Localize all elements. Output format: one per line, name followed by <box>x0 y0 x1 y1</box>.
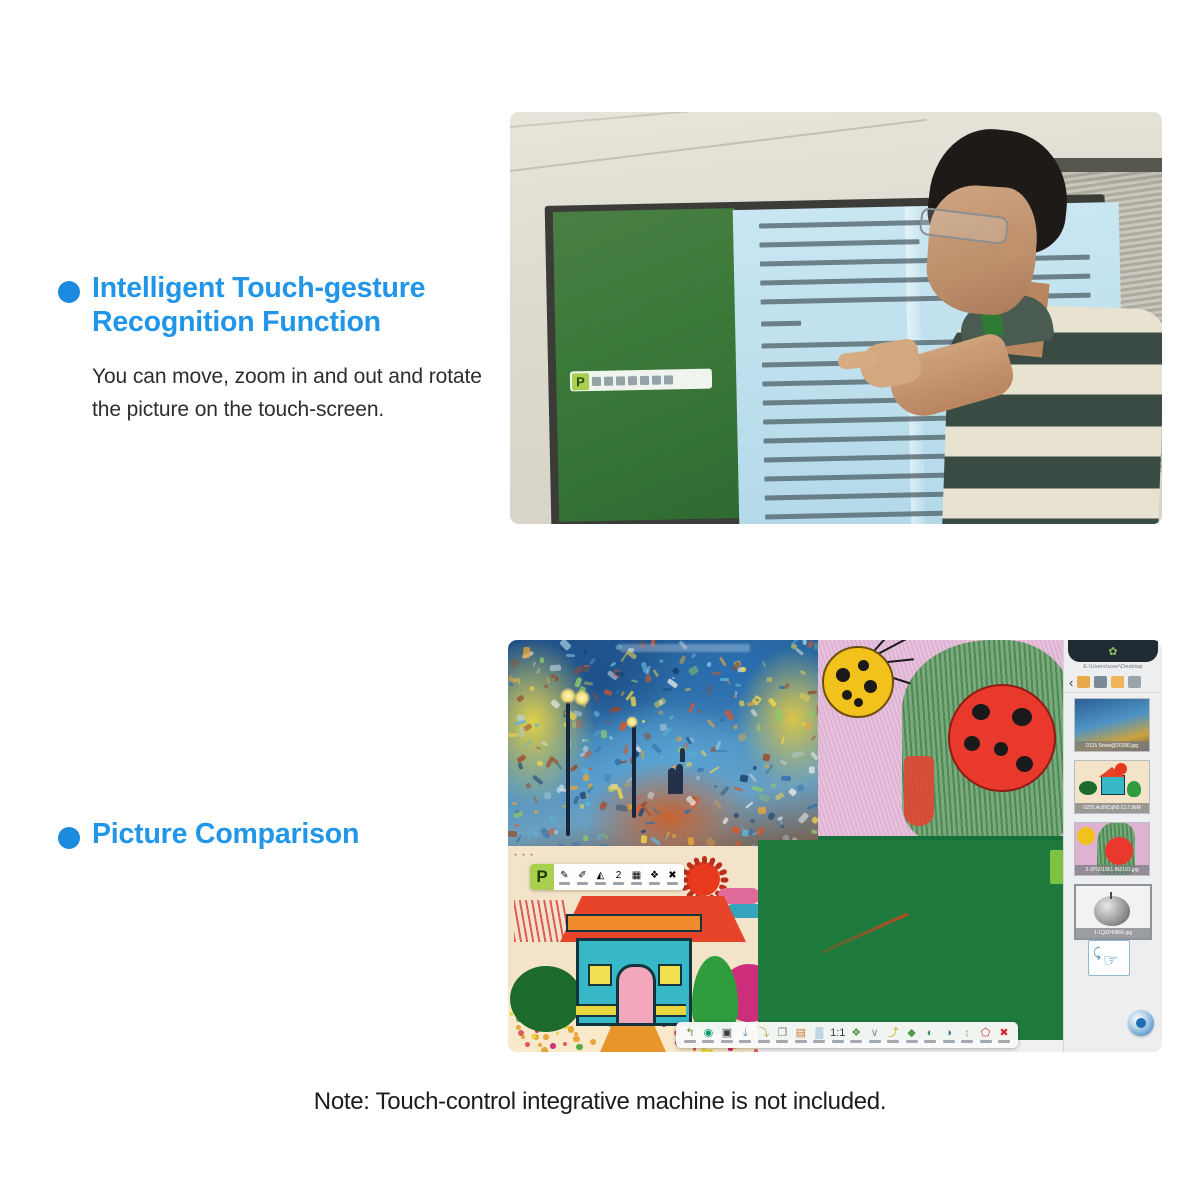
yellow-ladybug <box>822 646 894 718</box>
touch-gesture-icon[interactable]: ⤹ ☞ <box>1088 940 1130 976</box>
toolbar-button-label <box>832 1040 844 1043</box>
toolbar-button[interactable]: ▣ <box>719 1027 735 1043</box>
shapes-icon: ❖ <box>650 870 659 881</box>
page-number-icon: 2 <box>616 870 622 881</box>
flower-dot <box>556 1032 559 1035</box>
red-scribble <box>514 900 566 942</box>
sort-icon: ↕ <box>964 1027 970 1039</box>
floating-p-toolbar[interactable]: P ✎ ✐ ◭ 2 ▦ ❖ ✖ <box>530 864 684 890</box>
flower-dot <box>563 1042 567 1046</box>
tool-label <box>667 882 678 885</box>
document-text-line <box>761 321 801 327</box>
brush-stroke <box>600 730 607 738</box>
clock-icon: ◑ <box>945 1027 952 1039</box>
brush-stroke <box>508 831 517 837</box>
toolbar-button[interactable]: ∨ <box>867 1027 883 1043</box>
house-thumbnail[interactable]: 0205.ActNCqN5.CL7.tNM <box>1074 760 1150 814</box>
tool-label <box>631 882 642 885</box>
tool-label <box>595 882 606 885</box>
pen-icon: ✎ <box>560 870 568 881</box>
drawing-caption: ・・・ <box>512 850 536 860</box>
figure-walking <box>676 764 683 794</box>
photo-picture-comparison-demo: ・・・ P ✎ ✐ ◭ 2 ▦ ❖ <box>508 640 1162 1052</box>
tool-icon[interactable] <box>604 376 613 385</box>
floating-p-toolbar-top[interactable]: P <box>570 369 712 392</box>
toolbar-button-label <box>702 1040 714 1043</box>
toolbar-button[interactable]: ◐ <box>922 1027 938 1043</box>
person-figure <box>882 120 1162 524</box>
toolbar-button-label <box>869 1040 881 1043</box>
flower-dot <box>543 1034 549 1040</box>
leaf-icon: ✿ <box>1108 645 1117 658</box>
ladybug-spot <box>842 690 852 700</box>
flower-dot <box>701 1048 707 1052</box>
brush-stroke <box>523 646 531 658</box>
bullet-icon <box>58 827 80 849</box>
house-roof-band <box>566 914 702 932</box>
hand-pointer-icon: ☞ <box>1103 951 1118 971</box>
picture-comparison-grid: ・・・ P ✎ ✐ ◭ 2 ▦ ❖ <box>508 640 1068 1052</box>
flower-dot <box>573 1036 580 1043</box>
tool-icon[interactable] <box>592 376 601 385</box>
toolbar-button[interactable]: ❖ <box>848 1027 864 1043</box>
fit-icon: ❖ <box>851 1027 861 1039</box>
toolbar-button-label <box>739 1040 751 1043</box>
lamp-glow-icon <box>574 690 590 706</box>
brush-stroke <box>810 829 816 834</box>
tool-icon[interactable] <box>616 376 625 385</box>
rotate-icon: ⤴ <box>888 1027 899 1039</box>
toolbar-button[interactable]: ❐ <box>774 1027 790 1043</box>
bullet-icon <box>58 281 80 303</box>
flip-icon: ∨ <box>871 1027 879 1039</box>
import-icon: ⤵ <box>758 1027 769 1039</box>
toolbar-button[interactable]: ◆ <box>904 1027 920 1043</box>
brush-stroke <box>572 720 576 729</box>
ladybug-spot <box>858 660 869 671</box>
feature-heading-row: Intelligent Touch-gesture Recognition Fu… <box>58 272 498 339</box>
tool-icon[interactable] <box>628 376 637 385</box>
figure-walking <box>668 768 676 794</box>
ladybug-spot <box>972 704 990 720</box>
p-logo-icon: P <box>530 864 554 890</box>
ladybug-spot <box>964 736 980 751</box>
toolbar-button-label <box>998 1040 1010 1043</box>
toolbar-button[interactable]: ◑ <box>941 1027 957 1043</box>
quadrant-green-canvas[interactable] <box>758 840 1068 1040</box>
toolbar-button[interactable]: ▒ <box>811 1027 827 1043</box>
erase-icon: ⬠ <box>981 1027 991 1039</box>
toolbar-button-label <box>906 1040 918 1043</box>
toolbar-item[interactable]: ◭ <box>593 870 608 885</box>
download-icon: ⤓ <box>743 1027 748 1039</box>
undo-icon: ↰ <box>685 1027 694 1039</box>
toolbar-button-label <box>887 1040 899 1043</box>
ladybug-spot <box>994 742 1008 756</box>
toolbar-button-label <box>924 1040 936 1043</box>
thumbnail-caption: 0205.ActNCqN5.CL7.tNM <box>1075 803 1149 813</box>
paint-icon: ◆ <box>907 1027 915 1039</box>
brush-stroke <box>712 671 721 675</box>
feature-body-text: You can move, zoom in and out and rotate… <box>92 361 498 427</box>
quadrant-painting[interactable] <box>508 640 818 846</box>
brush-stroke <box>514 823 520 827</box>
figure-walking-distant <box>680 748 685 762</box>
brush-stroke <box>641 750 645 759</box>
toolbar-button-label <box>684 1040 696 1043</box>
shape-icon: ❐ <box>777 1027 787 1039</box>
brush-stroke <box>549 664 560 671</box>
toolbar-button-label <box>980 1040 992 1043</box>
ladybug-spot <box>1016 756 1033 772</box>
brush-stroke <box>508 733 518 737</box>
ladybug-spot <box>854 698 863 707</box>
brush-stroke <box>660 755 664 758</box>
grid-icon: ▦ <box>632 870 641 881</box>
location-icon: ◉ <box>704 1027 714 1039</box>
brush-stroke <box>629 696 636 707</box>
ladybug-spot <box>836 668 850 682</box>
brush-stroke <box>809 766 815 774</box>
tool-label <box>559 882 570 885</box>
swipe-arrow-icon: ⤹ <box>1093 945 1101 961</box>
sidebar-toolbar[interactable]: ‹ <box>1064 672 1162 693</box>
brush-stroke <box>780 776 790 781</box>
brush-stroke <box>598 834 601 840</box>
camera-icon: ▣ <box>722 1027 732 1039</box>
sun-ray <box>702 856 707 864</box>
dark-tree <box>510 966 582 1032</box>
sidebar-path-label: E:\Users\user\Desktop <box>1064 664 1162 670</box>
presentation-icon: ▤ <box>796 1027 806 1039</box>
toolbar-button-label <box>795 1040 807 1043</box>
toolbar-item[interactable]: ✖ <box>665 870 680 885</box>
flower-dot <box>525 1042 530 1047</box>
brush-stroke <box>756 725 760 732</box>
toolbar-button[interactable]: ✖ <box>996 1027 1012 1043</box>
house-window <box>658 964 682 986</box>
actual-size-icon: 1:1 <box>830 1027 845 1039</box>
copy-icon[interactable] <box>1094 676 1107 688</box>
toolbar-item[interactable]: ▦ <box>629 870 644 885</box>
apple-thumbnail[interactable]: 1-1QZIH0856.jpg <box>1074 884 1152 940</box>
toolbar-item[interactable]: ❖ <box>647 870 662 885</box>
ladybug-spot <box>1012 708 1032 726</box>
brush-stroke <box>659 690 664 697</box>
toolbar-button-label <box>961 1040 973 1043</box>
brush-stroke <box>763 753 771 761</box>
thumbnail-caption: 0125 Snow@20190.jpg <box>1075 741 1149 751</box>
lamp-post <box>632 722 636 818</box>
house-window <box>588 964 612 986</box>
tool-icon[interactable] <box>664 375 673 384</box>
toolbar-button-label <box>776 1040 788 1043</box>
toolbar-button-label <box>943 1040 955 1043</box>
toolbar-button-label <box>813 1040 825 1043</box>
close-icon: ✖ <box>999 1027 1008 1039</box>
flower-dot <box>516 1025 521 1030</box>
toolbar-button[interactable]: ⬠ <box>978 1027 994 1043</box>
house-door <box>616 964 656 1026</box>
watermark <box>620 644 750 652</box>
toolbar-button[interactable]: ⤓ <box>737 1027 753 1043</box>
tool-label <box>649 882 660 885</box>
close-icon: ✖ <box>668 870 676 881</box>
toolbar-item[interactable]: ✎ <box>557 870 572 885</box>
properties-icon[interactable] <box>1128 676 1141 688</box>
brush-stroke <box>566 653 575 657</box>
toolbar-button[interactable]: ⤵ <box>756 1027 772 1043</box>
eraser-icon: ◭ <box>597 870 605 881</box>
toolbar-button-label <box>758 1040 770 1043</box>
quadrant-ladybug-drawing[interactable] <box>818 640 1068 846</box>
flower-dot <box>541 1047 548 1052</box>
screen-green-area <box>553 208 741 522</box>
feature-heading-row-2: Picture Comparison <box>58 818 498 852</box>
flower-dot <box>550 1043 556 1049</box>
brush-stroke <box>739 700 745 707</box>
brush-icon: ✐ <box>578 870 586 881</box>
toolbar-item[interactable]: 2 <box>611 870 626 885</box>
tool-label <box>613 882 624 885</box>
footer-note: Note: Touch-control integrative machine … <box>0 1088 1200 1116</box>
red-ladybug <box>948 684 1056 792</box>
sidebar-thumbnail-list[interactable]: 0125 Snow@20190.jpg 0205.ActNCqN5.CL7.tN… <box>1074 698 1154 948</box>
grid-icon: ▒ <box>815 1027 823 1039</box>
brush-stroke <box>720 717 724 721</box>
toolbar-button[interactable]: ◉ <box>700 1027 716 1043</box>
open-folder-icon[interactable] <box>1111 676 1124 688</box>
flower-dot <box>531 1034 536 1039</box>
back-icon[interactable]: ‹ <box>1069 676 1073 689</box>
photo-touch-gesture-demo: P <box>510 112 1162 524</box>
toolbar-button-label <box>850 1040 862 1043</box>
folder-icon[interactable] <box>1077 676 1090 688</box>
tool-label <box>577 882 588 885</box>
painting-thumbnail[interactable]: 0125 Snow@20190.jpg <box>1074 698 1150 752</box>
brush-stroke <box>757 807 765 814</box>
lamp-post <box>566 696 570 836</box>
toolbar-button[interactable]: 1:1 <box>830 1027 846 1043</box>
red-flower <box>904 756 934 826</box>
toolbar-item[interactable]: ✐ <box>575 870 590 885</box>
toolbar-button[interactable]: ↰ <box>682 1027 698 1043</box>
sun-ray <box>721 878 729 883</box>
feature-heading: Intelligent Touch-gesture Recognition Fu… <box>92 272 498 339</box>
sidebar-header: ✿ <box>1068 640 1158 662</box>
flower-dot <box>754 1049 758 1052</box>
toolbar-button[interactable]: ▤ <box>793 1027 809 1043</box>
lamp-glow-icon <box>626 716 638 728</box>
toolbar-button-label <box>721 1040 733 1043</box>
feature-block-touch-gesture: Intelligent Touch-gesture Recognition Fu… <box>58 272 498 427</box>
feature-heading-2: Picture Comparison <box>92 818 359 852</box>
red-ink-stroke <box>820 913 909 955</box>
brush-stroke <box>539 657 544 663</box>
brush-stroke <box>739 774 748 782</box>
thumbnail-caption: 3-3PS01951.IN2161.jpg <box>1075 865 1149 875</box>
brush-stroke <box>696 767 703 772</box>
thumbnail-caption: 1-1QZIH0856.jpg <box>1076 928 1150 938</box>
ladybug-spot <box>864 680 877 693</box>
compare-icon: ◐ <box>927 1027 934 1039</box>
toolbar-button[interactable]: ⤴ <box>885 1027 901 1043</box>
p-logo-icon: P <box>572 373 589 390</box>
tool-icon[interactable] <box>652 375 661 384</box>
flower-dot <box>576 1044 583 1051</box>
feature-block-picture-comparison: Picture Comparison <box>58 818 498 852</box>
file-browser-sidebar[interactable]: ✿ E:\Users\user\Desktop ‹ 0125 Snow@2019… <box>1063 640 1162 1052</box>
settings-orb-icon[interactable] <box>1128 1010 1154 1036</box>
toolbar-button[interactable]: ↕ <box>959 1027 975 1043</box>
tool-icon[interactable] <box>640 375 649 384</box>
brush-stroke <box>672 677 675 679</box>
brush-stroke <box>576 719 583 729</box>
bottom-toolbar[interactable]: ↰◉▣⤓⤵❐▤▒1:1❖∨⤴◆◐◑↕⬠✖ <box>676 1022 1018 1048</box>
ladybug-thumbnail[interactable]: 3-3PS01951.IN2161.jpg <box>1074 822 1150 876</box>
brush-stroke <box>578 665 590 672</box>
